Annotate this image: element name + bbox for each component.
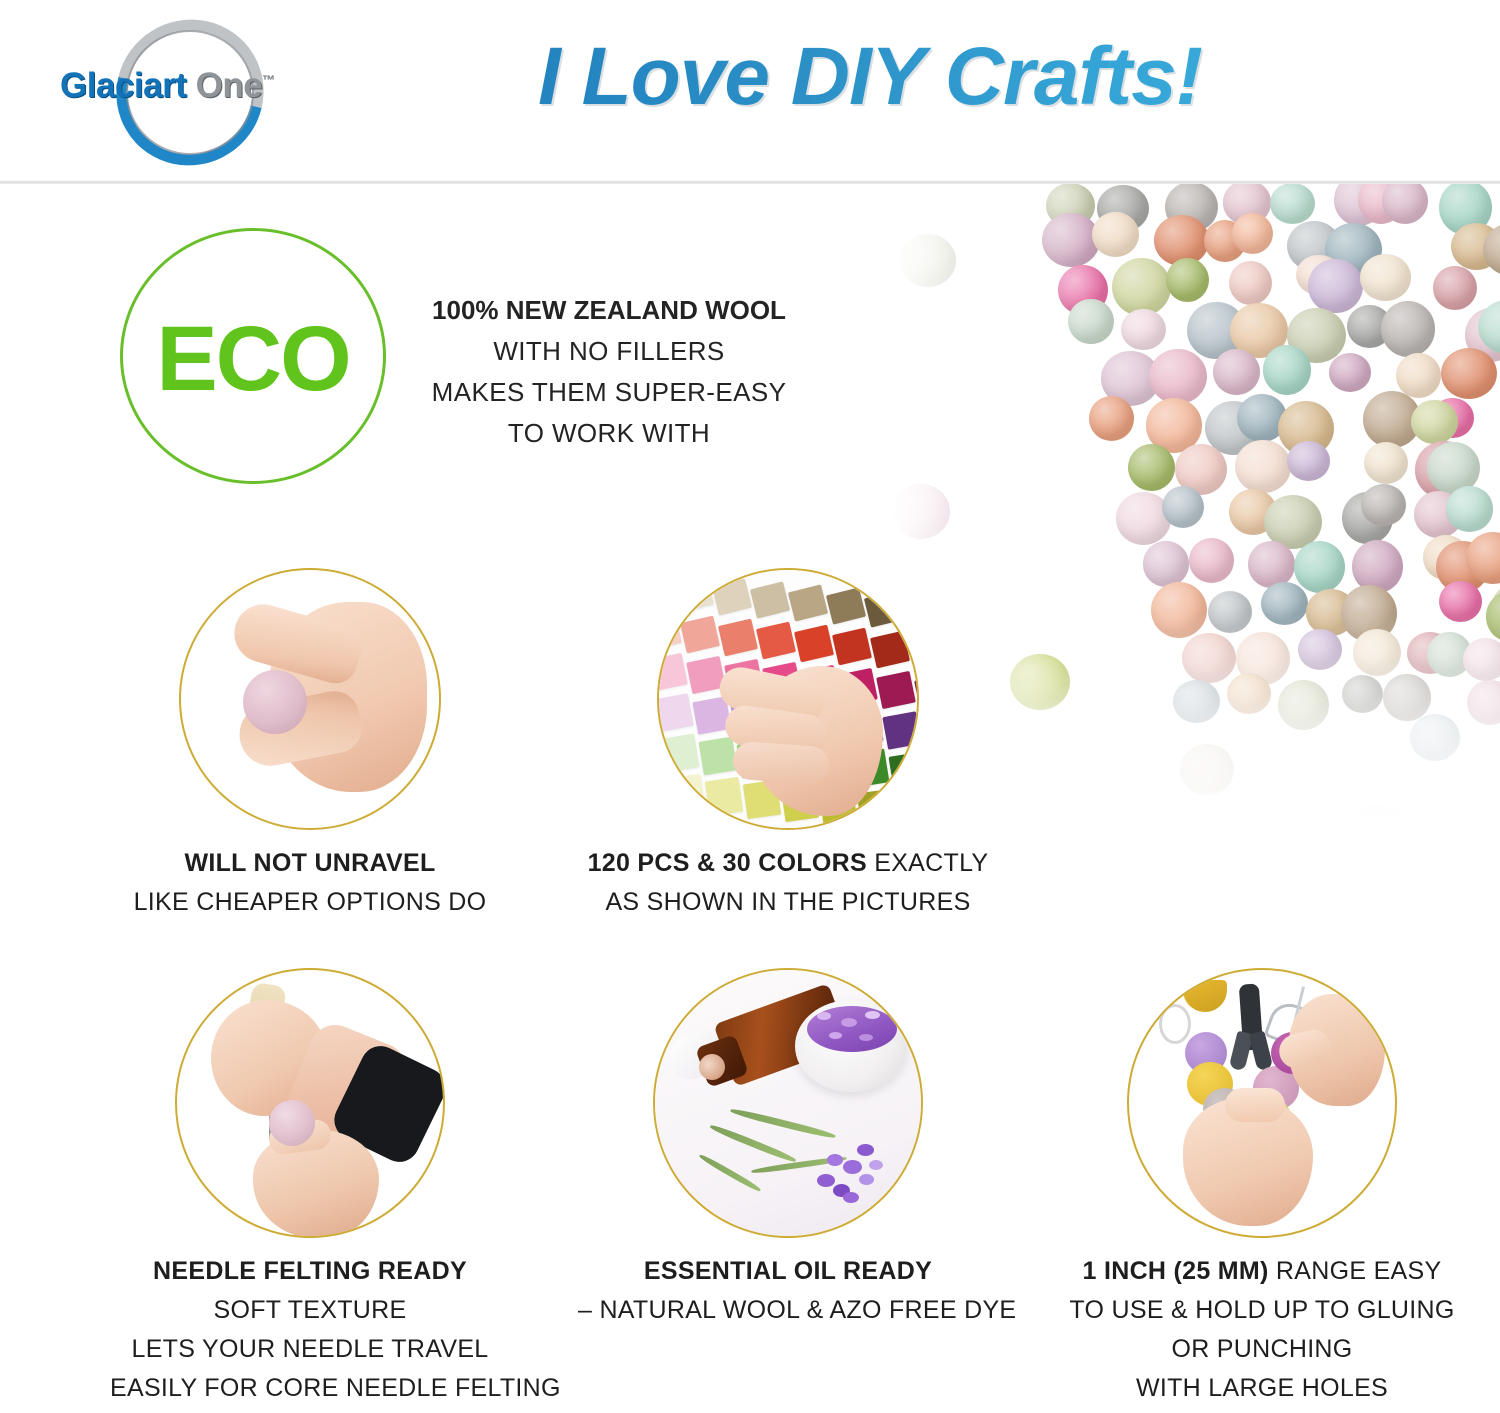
felt-ball <box>1189 538 1234 583</box>
felt-ball <box>1068 299 1114 345</box>
color-swatch <box>674 575 714 612</box>
color-swatch <box>794 625 834 663</box>
logo-word-one: One <box>196 66 263 105</box>
eco-line-3: TO WORK WITH <box>404 413 814 454</box>
felt-ball <box>1143 541 1189 586</box>
felt-ball <box>1382 184 1428 224</box>
felt-ball <box>1383 674 1430 722</box>
feature-image-needle-felting <box>175 968 445 1238</box>
felt-ball <box>1352 540 1403 593</box>
header: Glaciart One™ I Love DIY Crafts! <box>0 0 1500 183</box>
color-swatch <box>826 587 866 624</box>
eco-copy-block: 100% NEW ZEALAND WOOL WITH NO FILLERS MA… <box>404 290 814 454</box>
felt-ball <box>1261 582 1308 625</box>
feature-120-pcs-30-colors: 120 PCS & 30 COLORS EXACTLY AS SHOWN IN … <box>578 568 998 922</box>
feature-caption-line-3: WITH LARGE HOLES <box>1136 1374 1388 1402</box>
color-swatch <box>864 590 904 627</box>
color-swatch <box>657 572 676 609</box>
felt-ball <box>1439 581 1482 622</box>
feature-image-hand-holding-felt-ball <box>179 568 441 830</box>
feature-needle-felting-ready: NEEDLE FELTING READY SOFT TEXTURE LETS Y… <box>110 968 510 1408</box>
feature-one-inch-range: 1 INCH (25 MM) RANGE EASY TO USE & HOLD … <box>1052 968 1472 1408</box>
felt-ball <box>1042 213 1100 267</box>
logo-wordmark: Glaciart One™ <box>60 66 330 106</box>
color-swatch <box>712 578 752 615</box>
felt-ball <box>1208 591 1252 633</box>
eco-line-0: 100% NEW ZEALAND WOOL <box>404 290 814 331</box>
felt-ball <box>1010 654 1070 710</box>
color-swatch <box>699 737 738 776</box>
feature-caption-line-0-regular: RANGE EASY <box>1269 1257 1442 1285</box>
felt-ball <box>1166 258 1209 302</box>
page-title: I Love DIY Crafts! <box>420 18 1320 136</box>
felt-ball <box>1287 441 1330 481</box>
felt-ball <box>1396 353 1441 399</box>
felt-ball <box>1235 440 1290 493</box>
feature-caption-line-2: LETS YOUR NEEDLE TRAVEL <box>131 1335 488 1363</box>
felt-ball <box>1278 680 1329 730</box>
color-swatch <box>914 674 919 712</box>
color-swatch <box>832 628 872 666</box>
felt-ball <box>1182 633 1235 683</box>
eco-line-2: MAKES THEM SUPER-EASY <box>404 372 814 413</box>
felt-ball <box>1329 353 1371 392</box>
felt-ball <box>1112 258 1170 316</box>
felt-ball <box>1263 345 1311 394</box>
felt-ball <box>1213 349 1260 395</box>
color-swatch <box>705 777 744 816</box>
color-swatch <box>661 734 700 773</box>
color-swatch <box>756 622 796 660</box>
feature-caption: WILL NOT UNRAVEL LIKE CHEAPER OPTIONS DO <box>110 844 510 922</box>
felt-ball <box>1360 254 1412 301</box>
logo-word-glaciart: Glaciart <box>60 66 186 105</box>
feature-caption-line-3: EASILY FOR CORE NEEDLE FELTING <box>110 1374 561 1402</box>
feature-caption-line-0: WILL NOT UNRAVEL <box>184 849 435 877</box>
feature-caption: 1 INCH (25 MM) RANGE EASY TO USE & HOLD … <box>1052 1252 1472 1408</box>
felt-ball <box>1486 591 1500 641</box>
felt-ball <box>1128 444 1175 491</box>
infographic-page: Glaciart One™ I Love DIY Crafts! ECO 100… <box>0 0 1500 1413</box>
feature-caption-line-0-bold: 1 INCH (25 MM) <box>1083 1257 1269 1285</box>
feature-image-essential-oil <box>653 968 923 1238</box>
color-swatch <box>680 616 720 654</box>
pink-felt-ball-icon <box>269 1100 315 1146</box>
color-swatch <box>882 711 919 750</box>
felt-ball <box>1180 744 1234 795</box>
felt-ball <box>1433 266 1477 310</box>
felt-ball <box>1092 212 1138 257</box>
feature-image-threading-felt-balls <box>1127 968 1397 1238</box>
felt-ball <box>1227 673 1271 714</box>
felt-ball <box>892 484 950 539</box>
color-swatch <box>908 634 919 672</box>
felt-ball <box>1350 804 1404 844</box>
color-swatch <box>895 792 919 830</box>
felt-ball <box>1411 400 1458 444</box>
feature-essential-oil-ready: ESSENTIAL OIL READY – NATURAL WOOL & AZO… <box>578 968 998 1330</box>
feature-caption-line-1: AS SHOWN IN THE PICTURES <box>605 888 970 916</box>
eco-line-1: WITH NO FILLERS <box>404 331 814 372</box>
feature-image-color-fan-deck <box>657 568 919 830</box>
felt-ball <box>1446 486 1494 531</box>
felt-ball <box>1467 680 1500 725</box>
felt-ball <box>1308 259 1362 313</box>
color-swatch <box>876 671 916 709</box>
feature-caption-line-1: TO USE & HOLD UP TO GLUING <box>1069 1296 1454 1324</box>
felt-ball <box>1151 582 1207 638</box>
feature-caption-line-1: – NATURAL WOOL & AZO FREE DYE <box>578 1296 1016 1324</box>
feature-caption: 120 PCS & 30 COLORS EXACTLY AS SHOWN IN … <box>578 844 998 922</box>
feature-caption: NEEDLE FELTING READY SOFT TEXTURE LETS Y… <box>110 1252 510 1408</box>
felt-ball <box>1361 484 1406 525</box>
felt-ball <box>1381 301 1435 356</box>
feature-caption-line-0-regular: EXACTLY <box>867 849 988 877</box>
color-swatch <box>750 581 790 618</box>
felt-ball <box>1463 638 1500 681</box>
color-swatch <box>902 593 919 630</box>
feature-caption: ESSENTIAL OIL READY – NATURAL WOOL & AZO… <box>578 1252 998 1330</box>
brand-logo: Glaciart One™ <box>38 14 328 164</box>
feature-will-not-unravel: WILL NOT UNRAVEL LIKE CHEAPER OPTIONS DO <box>110 568 510 922</box>
felt-ball <box>1294 541 1345 593</box>
color-swatch <box>657 613 682 651</box>
felt-ball <box>1232 213 1273 254</box>
color-swatch <box>657 653 688 691</box>
felt-ball <box>1229 261 1272 305</box>
felt-ball <box>1173 680 1220 723</box>
feature-caption-line-1: LIKE CHEAPER OPTIONS DO <box>134 888 487 916</box>
feature-caption-line-1: SOFT TEXTURE <box>214 1296 407 1324</box>
felt-ball <box>1248 541 1294 588</box>
felt-ball <box>1298 629 1342 670</box>
felt-ball <box>1149 349 1207 405</box>
color-swatch <box>718 619 758 657</box>
feature-caption-line-0-bold: 120 PCS & 30 COLORS <box>588 849 867 877</box>
color-swatch <box>788 584 828 621</box>
felt-ball <box>1162 486 1205 529</box>
felt-ball <box>1342 675 1383 713</box>
felt-ball <box>1364 442 1408 484</box>
felt-ball <box>900 234 956 287</box>
eco-badge-label: ECO <box>156 313 349 405</box>
felt-ball <box>1270 184 1315 224</box>
color-swatch <box>667 774 706 813</box>
felt-ball <box>1121 309 1166 351</box>
feature-caption-line-2: OR PUNCHING <box>1171 1335 1352 1363</box>
eco-badge: ECO <box>120 228 386 484</box>
felt-ball <box>1353 629 1401 676</box>
color-swatch <box>889 752 919 791</box>
felt-ball <box>1410 714 1460 761</box>
trademark-symbol: ™ <box>262 72 275 87</box>
color-swatch <box>657 693 694 732</box>
feature-caption-line-0: NEEDLE FELTING READY <box>153 1257 467 1285</box>
felt-ball <box>1441 348 1497 399</box>
feature-caption-line-0: ESSENTIAL OIL READY <box>644 1257 932 1285</box>
felt-ball <box>1089 396 1135 441</box>
pink-felt-ball-icon <box>243 670 307 734</box>
color-swatch <box>870 631 910 669</box>
